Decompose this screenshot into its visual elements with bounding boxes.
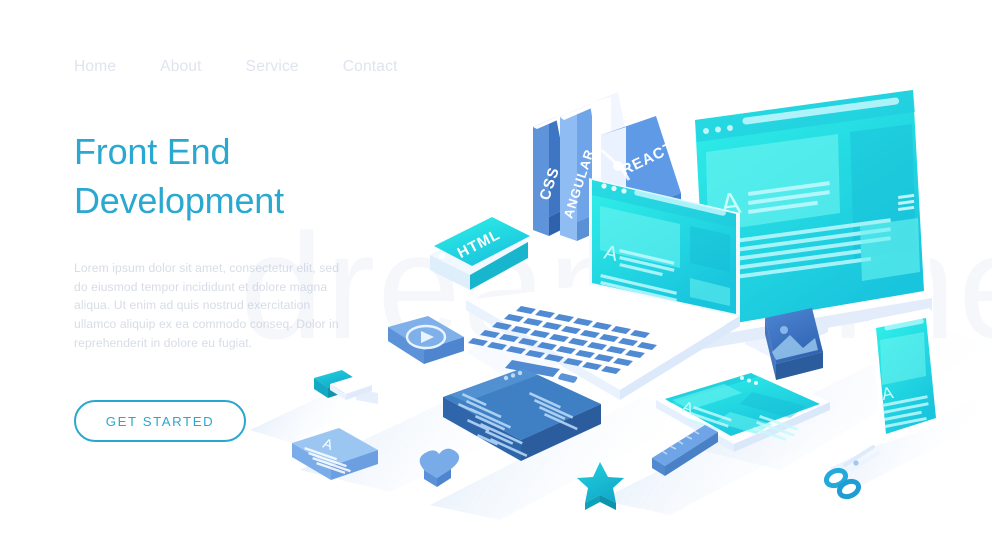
heart-icon bbox=[420, 449, 460, 487]
landing-page: Home About Service Contact Front End Dev… bbox=[0, 0, 992, 554]
laptop: A bbox=[466, 178, 740, 400]
isometric-illustration: CSS ANGULAR bbox=[0, 0, 992, 554]
laptop-keyboard bbox=[557, 373, 578, 383]
book-html: HTML bbox=[430, 217, 530, 290]
smartphone: A bbox=[870, 308, 942, 444]
image-icon bbox=[765, 308, 823, 380]
play-button-icon bbox=[388, 316, 464, 364]
